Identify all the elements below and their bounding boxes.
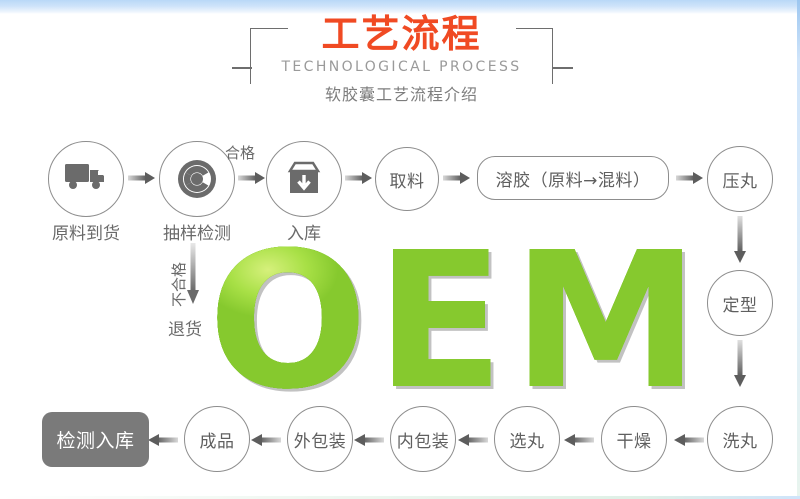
node-raw-material-arrival[interactable] (48, 141, 124, 217)
arrow-warehouse-to-picking (345, 170, 373, 184)
arrow-drying-to-sorting (562, 432, 594, 446)
node-shaping[interactable]: 定型 (707, 270, 773, 336)
arrow-inner-to-outer-packaging (352, 432, 384, 446)
node-inner-packaging[interactable]: 内包装 (390, 406, 456, 472)
node-label-shaping: 定型 (723, 291, 758, 316)
page-title-english: TECHNOLOGICAL PROCESS (250, 58, 553, 76)
node-pill-sorting[interactable]: 选丸 (494, 406, 560, 472)
arrow-shaping-to-washing (733, 340, 747, 388)
node-sampling-inspection[interactable] (159, 141, 235, 217)
node-label-pill-pressing: 压丸 (723, 167, 758, 192)
node-label-drying: 干燥 (617, 427, 652, 452)
arrow-picking-to-melting (443, 170, 471, 184)
edge-label-unqualified: 不合格 (168, 262, 189, 307)
edge-label-qualified: 合格 (225, 142, 255, 163)
process-flow-infographic: 工艺流程 TECHNOLOGICAL PROCESS 软胶囊工艺流程介绍 OEM… (0, 0, 800, 499)
node-finished-product[interactable]: 成品 (184, 406, 250, 472)
header-block: 工艺流程 TECHNOLOGICAL PROCESS 软胶囊工艺流程介绍 (250, 28, 555, 108)
node-pill-pressing[interactable]: 压丸 (707, 146, 773, 212)
arrow-sorting-to-inner-packaging (456, 432, 488, 446)
node-gel-melting[interactable]: 溶胶（原料→混料） (477, 156, 669, 200)
node-material-picking[interactable]: 取料 (375, 147, 439, 211)
node-pill-washing[interactable]: 洗丸 (707, 406, 773, 472)
node-inspect-and-store[interactable]: 检测入库 (42, 412, 149, 467)
node-drying[interactable]: 干燥 (601, 406, 667, 472)
arrow-finished-to-inspect-store (146, 432, 178, 446)
node-outer-packaging[interactable]: 外包装 (287, 406, 353, 472)
arrow-outer-packaging-to-finished (249, 432, 281, 446)
node-label-gel-melting: 溶胶（原料→混料） (496, 166, 651, 191)
node-label-raw-material-arrival: 原料到货 (36, 219, 136, 244)
oem-watermark: OEM (208, 228, 708, 418)
node-label-material-picking: 取料 (390, 167, 425, 192)
node-label-finished-product: 成品 (200, 427, 235, 452)
node-label-inner-packaging: 内包装 (397, 427, 450, 452)
node-label-outer-packaging: 外包装 (294, 427, 347, 452)
node-warehouse-in[interactable] (266, 141, 342, 217)
node-label-pill-washing: 洗丸 (723, 427, 758, 452)
page-title: 工艺流程 (250, 12, 553, 56)
frame-side-line-left (232, 67, 252, 69)
node-label-sampling-inspection: 抽样检测 (147, 219, 247, 244)
edge-label-return-goods: 退货 (168, 315, 202, 340)
node-label-warehouse-in: 入库 (264, 219, 344, 244)
arrow-melting-to-pressing (676, 170, 704, 184)
inbox-down-arrow-icon (284, 159, 324, 199)
arrow-arrival-to-inspection (128, 170, 156, 184)
page-subtitle: 软胶囊工艺流程介绍 (250, 84, 553, 106)
frame-side-line-right (553, 67, 573, 69)
truck-icon (63, 159, 109, 199)
node-label-pill-sorting: 选丸 (510, 427, 545, 452)
arrow-inspection-to-warehouse (238, 170, 266, 184)
node-label-inspect-and-store: 检测入库 (56, 426, 134, 453)
arrow-washing-to-drying (672, 432, 704, 446)
arrow-pressing-to-shaping (733, 216, 747, 264)
inspection-valve-icon (176, 158, 218, 200)
